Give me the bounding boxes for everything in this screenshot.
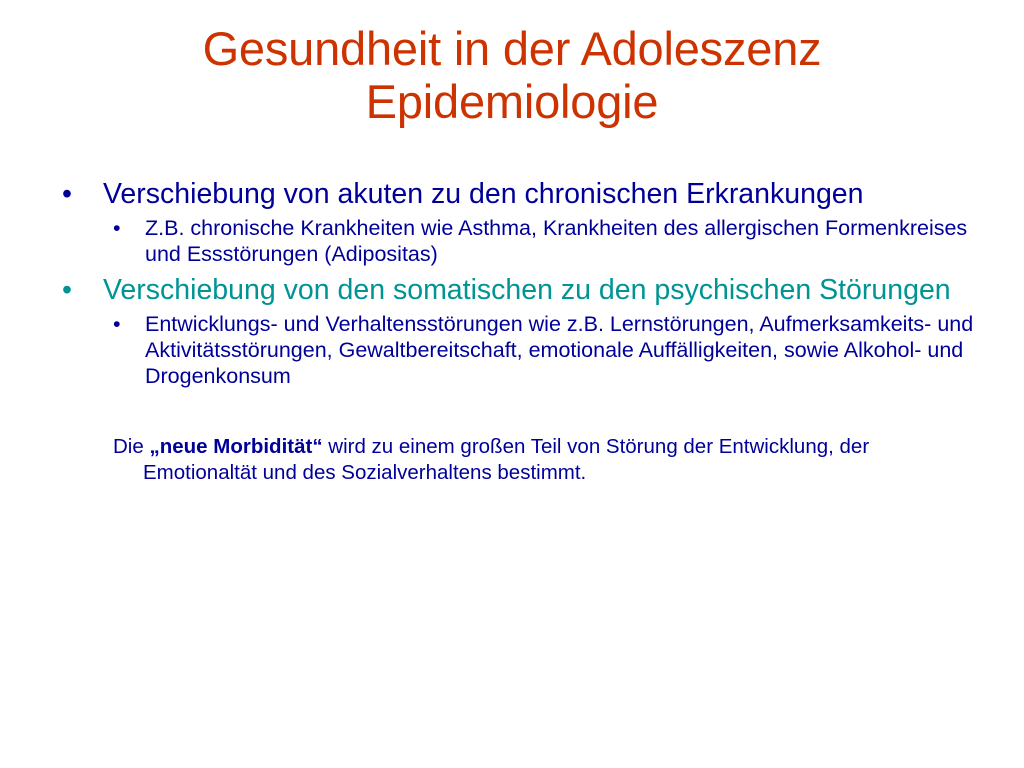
- bullet-marker-icon: •: [62, 178, 72, 211]
- slide-body: • Verschiebung von akuten zu den chronis…: [0, 178, 1024, 486]
- bullet-level2-item-1-text: Z.B. chronische Krankheiten wie Asthma, …: [145, 216, 967, 266]
- bullet-marker-icon: •: [113, 312, 121, 338]
- bullet-level1-item-2: • Verschiebung von den somatischen zu de…: [0, 274, 1024, 307]
- slide: Gesundheit in der Adoleszenz Epidemiolog…: [0, 0, 1024, 768]
- bullet-level1-item-1-text: Verschiebung von akuten zu den chronisch…: [103, 178, 864, 210]
- bullet-level2-item-2-text: Entwicklungs- und Verhaltensstörungen wi…: [145, 312, 973, 388]
- bullet-level2-item-1: • Z.B. chronische Krankheiten wie Asthma…: [0, 216, 1024, 268]
- bullet-level2-item-2: • Entwicklungs- und Verhaltensstörungen …: [0, 312, 1024, 389]
- slide-title: Gesundheit in der Adoleszenz Epidemiolog…: [0, 23, 1024, 128]
- bullet-marker-icon: •: [62, 274, 72, 307]
- closing-note-prefix: Die: [113, 435, 149, 458]
- slide-title-line-2: Epidemiologie: [0, 76, 1024, 129]
- bullet-marker-icon: •: [113, 216, 121, 242]
- closing-note-emphasis: „neue Morbidität“: [149, 435, 322, 458]
- bullet-level1-item-1: • Verschiebung von akuten zu den chronis…: [0, 178, 1024, 211]
- slide-title-line-1: Gesundheit in der Adoleszenz: [0, 23, 1024, 76]
- bullet-level1-item-2-text: Verschiebung von den somatischen zu den …: [103, 274, 951, 306]
- closing-note: Die „neue Morbidität“ wird zu einem groß…: [0, 434, 1024, 486]
- closing-note-inner: Die „neue Morbidität“ wird zu einem groß…: [113, 434, 929, 486]
